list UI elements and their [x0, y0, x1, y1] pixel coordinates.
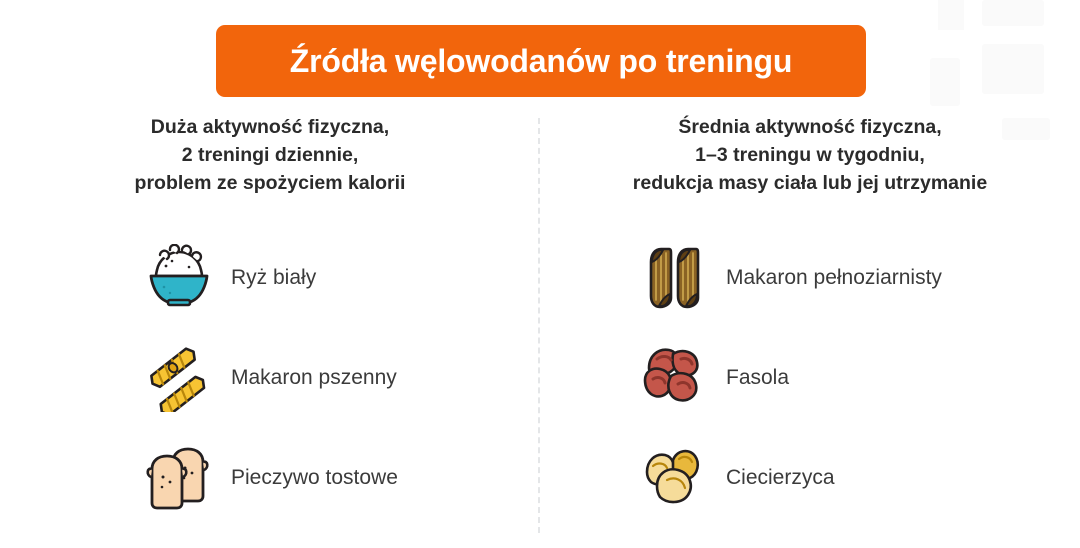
food-label: Makaron pełnoziarnisty	[726, 267, 942, 288]
header-line: 2 treningi dziennie,	[14, 141, 526, 169]
column-medium-activity: Średnia aktywność fizyczna, 1–3 treningu…	[540, 113, 1080, 543]
list-item: Ciecierzyca	[540, 427, 1080, 527]
chickpeas-icon	[628, 439, 720, 515]
column-high-activity: Duża aktywność fizyczna, 2 treningi dzie…	[0, 113, 540, 543]
list-item: Fasola	[540, 327, 1080, 427]
header-line: Średnia aktywność fizyczna,	[554, 113, 1066, 141]
list-item: Makaron pszenny	[0, 327, 540, 427]
kidney-beans-icon	[628, 339, 720, 415]
column-header-medium-activity: Średnia aktywność fizyczna, 1–3 treningu…	[540, 113, 1080, 197]
food-label: Fasola	[726, 367, 789, 388]
list-item: Ryż biały	[0, 227, 540, 327]
columns-container: Duża aktywność fizyczna, 2 treningi dzie…	[0, 113, 1080, 543]
page-title: Źródła węlowodanów po treningu	[290, 45, 792, 77]
header-line: redukcja masy ciała lub jej utrzymanie	[554, 169, 1066, 197]
food-label: Pieczywo tostowe	[231, 467, 398, 488]
page-title-banner: Źródła węlowodanów po treningu	[216, 25, 866, 97]
header-line: 1–3 treningu w tygodniu,	[554, 141, 1066, 169]
rice-bowl-icon	[133, 239, 225, 315]
column-header-high-activity: Duża aktywność fizyczna, 2 treningi dzie…	[0, 113, 540, 197]
column-divider	[538, 118, 540, 533]
list-item: Makaron pełnoziarnisty	[540, 227, 1080, 327]
header-line: Duża aktywność fizyczna,	[14, 113, 526, 141]
header-line: problem ze spożyciem kalorii	[14, 169, 526, 197]
food-label: Ryż biały	[231, 267, 316, 288]
food-label: Ciecierzyca	[726, 467, 835, 488]
food-label: Makaron pszenny	[231, 367, 397, 388]
wheat-pasta-icon	[133, 339, 225, 415]
wholegrain-pasta-icon	[628, 239, 720, 315]
food-list-medium-activity: Makaron pełnoziarnisty Fas	[540, 227, 1080, 527]
food-list-high-activity: Ryż biały	[0, 227, 540, 527]
toast-bread-icon	[133, 439, 225, 515]
list-item: Pieczywo tostowe	[0, 427, 540, 527]
